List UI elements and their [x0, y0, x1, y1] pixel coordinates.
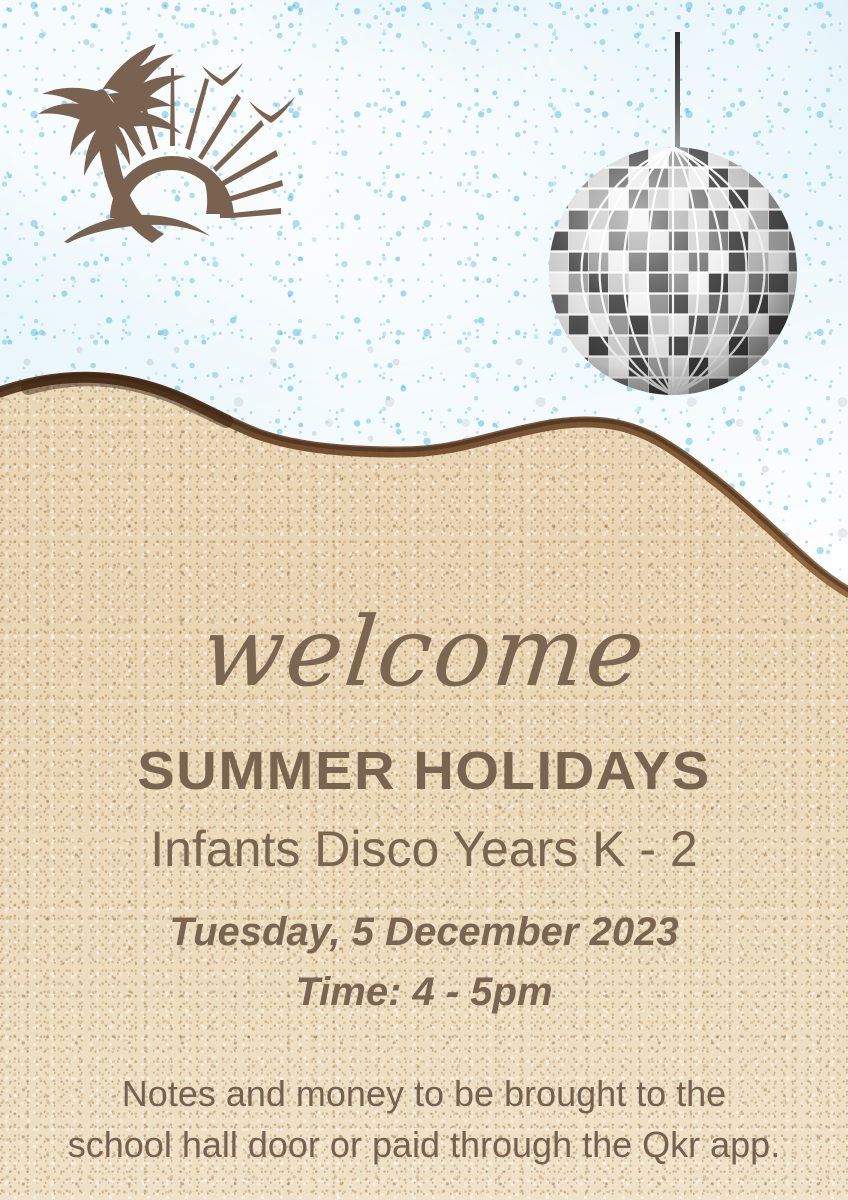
payment-note-line-2: school hall door or paid through the Qkr…: [12, 1119, 836, 1170]
headline-summer-holidays: SUMMER HOLIDAYS: [0, 744, 848, 798]
payment-note-line-1: Notes and money to be brought to the: [12, 1068, 836, 1119]
event-date: Tuesday, 5 December 2023: [0, 912, 848, 952]
payment-note: Notes and money to be brought to the sch…: [12, 1068, 836, 1170]
event-time: Time: 4 - 5pm: [0, 972, 848, 1012]
welcome-script-text: welcome: [0, 604, 848, 700]
subhead-infants-disco-years: Infants Disco Years K - 2: [0, 824, 848, 874]
poster-canvas: welcome SUMMER HOLIDAYS Infants Disco Ye…: [0, 0, 848, 1200]
poster-copy: welcome SUMMER HOLIDAYS Infants Disco Ye…: [0, 0, 848, 1200]
